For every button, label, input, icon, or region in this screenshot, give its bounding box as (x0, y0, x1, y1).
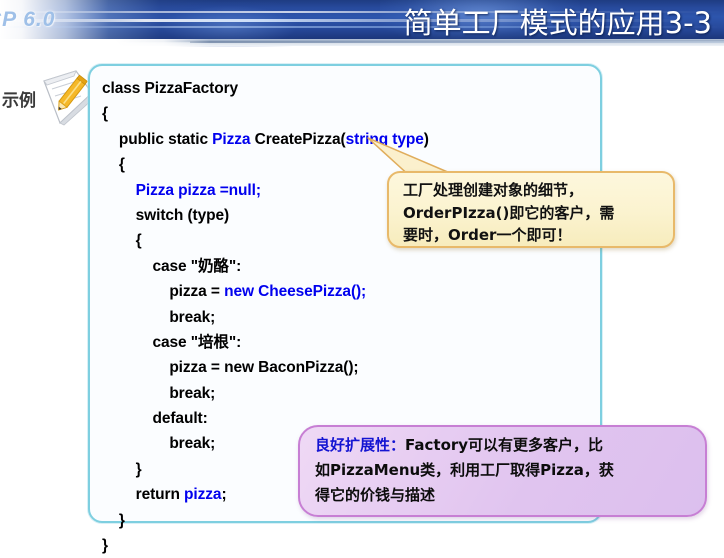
code-text: pizza = (169, 283, 224, 300)
code-keyword: pizza (184, 486, 221, 503)
code-text: break; (169, 385, 215, 402)
callout-factory-detail-text: 工厂处理创建对象的细节， OrderPIzza()即它的客户，需 要时，Orde… (403, 179, 665, 247)
code-text: break; (169, 309, 215, 326)
code-line: public static Pizza CreatePizza(string t… (102, 127, 594, 152)
example-label: 示例 (2, 86, 36, 111)
page-title: 简单工厂模式的应用3-3 (404, 0, 712, 42)
code-text: { (136, 232, 142, 249)
code-text: { (102, 105, 108, 122)
code-line: break; (102, 305, 594, 330)
code-text: ; (221, 486, 226, 503)
code-line: break; (102, 381, 594, 406)
code-text: } (119, 512, 125, 529)
header-bottom-rule-fade (0, 39, 210, 47)
code-keyword: Pizza pizza =null; (136, 182, 261, 199)
code-text: switch (type) (136, 207, 229, 224)
callout-extensibility-highlight: 良好扩展性： (315, 436, 405, 454)
code-line: { (102, 101, 594, 126)
code-text: default: (152, 410, 207, 427)
code-text: pizza = new BaconPizza(); (169, 359, 358, 376)
code-text: } (136, 461, 142, 478)
code-text: { (119, 156, 125, 173)
callout-extensibility: 良好扩展性：Factory可以有更多客户，比 如PizzaMenu类，利用工厂取… (298, 425, 707, 517)
product-logo: CP 6.0 (0, 8, 55, 32)
header-banner: CP 6.0 简单工厂模式的应用3-3 (0, 0, 724, 47)
code-line: pizza = new CheesePizza(); (102, 279, 594, 304)
code-line: case "培根": (102, 330, 594, 355)
code-text: break; (169, 435, 215, 452)
code-text: public static (119, 131, 212, 148)
code-text: case "奶酪": (152, 258, 241, 275)
code-line: class PizzaFactory (102, 76, 594, 101)
example-badge: 示例 (2, 67, 98, 129)
callout-extensibility-text: 良好扩展性：Factory可以有更多客户，比 如PizzaMenu类，利用工厂取… (315, 433, 695, 508)
code-keyword: new CheesePizza(); (224, 283, 366, 300)
code-text: case "培根": (152, 334, 241, 351)
code-keyword: Pizza (212, 131, 250, 148)
code-line: pizza = new BaconPizza(); (102, 355, 594, 380)
code-line: case "奶酪": (102, 254, 594, 279)
callout-factory-detail: 工厂处理创建对象的细节， OrderPIzza()即它的客户，需 要时，Orde… (387, 171, 675, 248)
code-text: CreatePizza( (250, 131, 345, 148)
code-text: class PizzaFactory (102, 80, 238, 97)
code-text: return (136, 486, 184, 503)
